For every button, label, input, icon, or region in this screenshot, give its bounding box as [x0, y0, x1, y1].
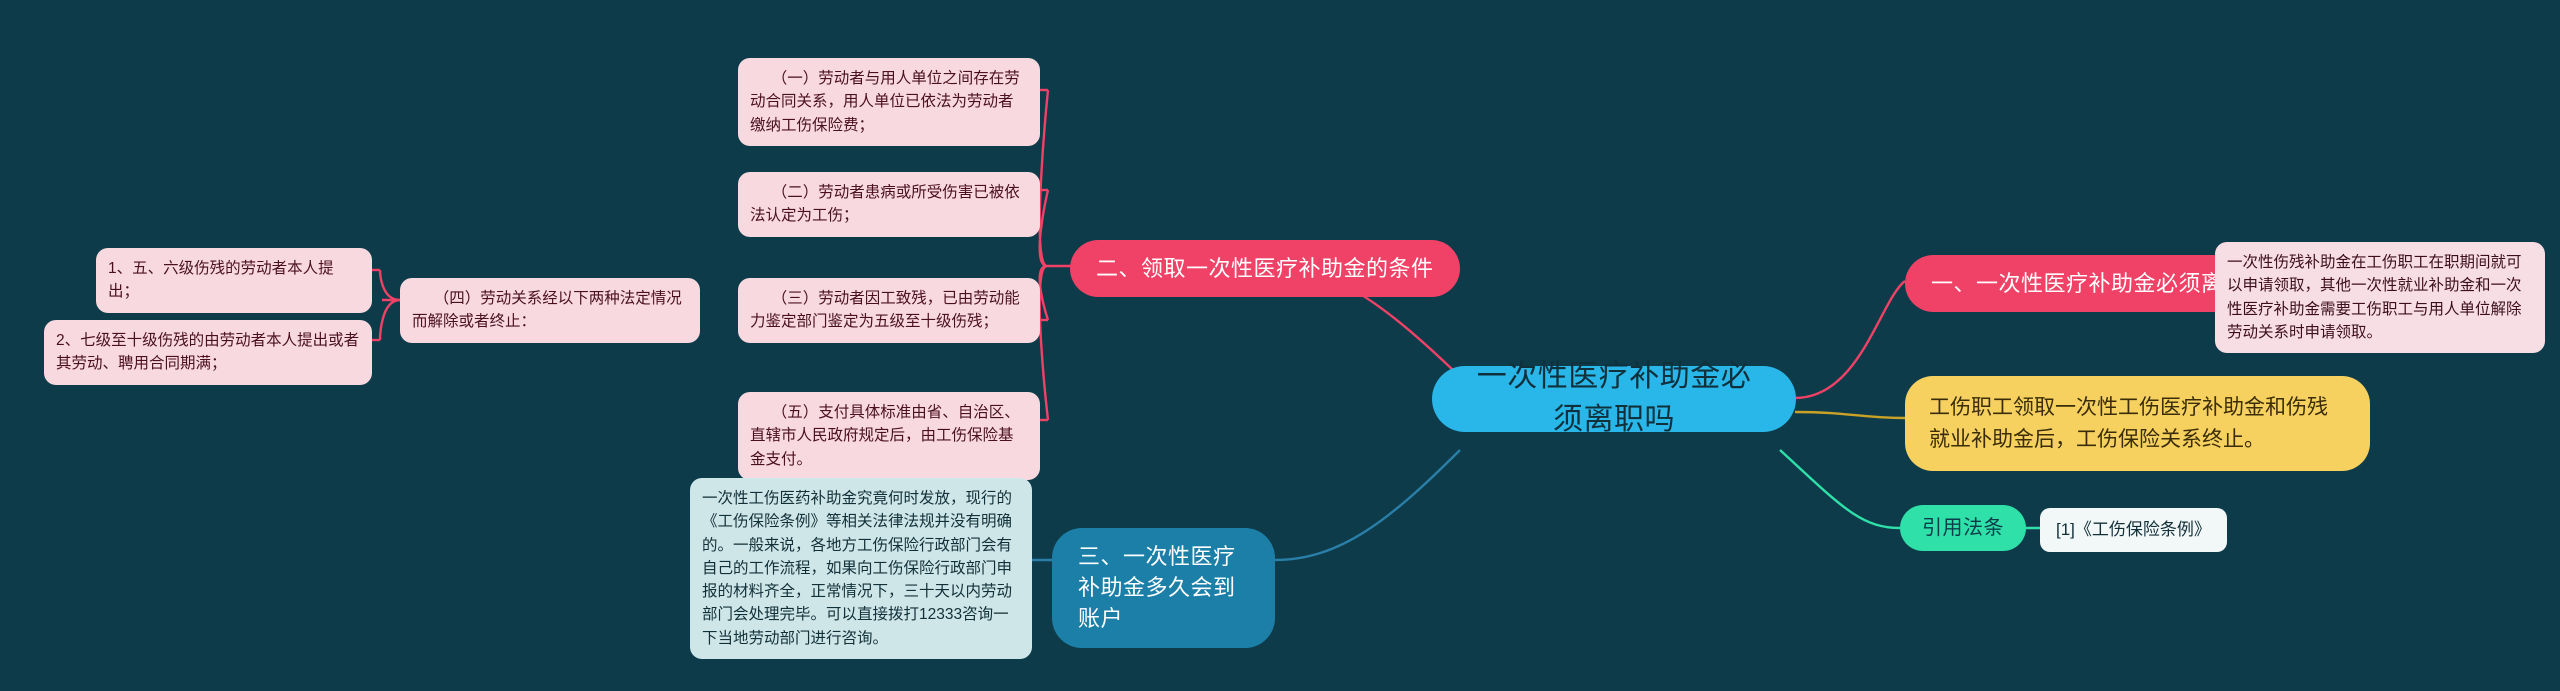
central-topic-label: 一次性医疗补助金必须离职吗	[1466, 356, 1762, 441]
condition-card-3-text: （三）劳动者因工致残，已由劳动能力鉴定部门鉴定为五级至十级伤残；	[750, 287, 1028, 334]
summary-card[interactable]: 工伤职工领取一次性工伤医疗补助金和伤残就业补助金后，工伤保险关系终止。	[1905, 376, 2370, 471]
condition-4-child-1[interactable]: 1、五、六级伤残的劳动者本人提出；	[96, 248, 372, 313]
condition-4-child-2[interactable]: 2、七级至十级伤残的由劳动者本人提出或者其劳动、聘用合同期满；	[44, 320, 372, 385]
branch-two-conditions[interactable]: 二、领取一次性医疗补助金的条件	[1070, 240, 1460, 297]
branch-two-label: 二、领取一次性医疗补助金的条件	[1096, 253, 1434, 284]
branch-one-detail-card[interactable]: 一次性伤残补助金在工伤职工在职期间就可以申请领取，其他一次性就业补助金和一次性医…	[2215, 242, 2545, 353]
branch-laws[interactable]: 引用法条	[1900, 505, 2026, 551]
condition-card-4[interactable]: （四）劳动关系经以下两种法定情况而解除或者终止：	[400, 278, 700, 343]
condition-card-3[interactable]: （三）劳动者因工致残，已由劳动能力鉴定部门鉴定为五级至十级伤残；	[738, 278, 1040, 343]
condition-card-1-text: （一）劳动者与用人单位之间存在劳动合同关系，用人单位已依法为劳动者缴纳工伤保险费…	[750, 67, 1028, 137]
branch-three-detail-text: 一次性工伤医药补助金究竟何时发放，现行的《工伤保险条例》等相关法律法规并没有明确…	[702, 487, 1020, 650]
condition-4-child-2-text: 2、七级至十级伤残的由劳动者本人提出或者其劳动、聘用合同期满；	[56, 329, 360, 376]
condition-card-1[interactable]: （一）劳动者与用人单位之间存在劳动合同关系，用人单位已依法为劳动者缴纳工伤保险费…	[738, 58, 1040, 146]
condition-card-4-text: （四）劳动关系经以下两种法定情况而解除或者终止：	[412, 287, 688, 334]
branch-laws-label: 引用法条	[1922, 514, 2004, 542]
branch-three-arrival-time[interactable]: 三、一次性医疗补助金多久会到账户	[1052, 528, 1275, 648]
law-item-1[interactable]: [1]《工伤保险条例》	[2040, 508, 2227, 552]
mindmap-canvas: 一次性医疗补助金必须离职吗 二、领取一次性医疗补助金的条件 （一）劳动者与用人单…	[0, 0, 2560, 691]
connector-lines	[0, 0, 2560, 691]
branch-three-label: 三、一次性医疗补助金多久会到账户	[1078, 541, 1249, 635]
law-item-1-text: [1]《工伤保险条例》	[2056, 517, 2211, 543]
branch-one-detail-text: 一次性伤残补助金在工伤职工在职期间就可以申请领取，其他一次性就业补助金和一次性医…	[2227, 251, 2533, 344]
condition-card-5[interactable]: （五）支付具体标准由省、自治区、直辖市人民政府规定后，由工伤保险基金支付。	[738, 392, 1040, 480]
branch-three-detail-card[interactable]: 一次性工伤医药补助金究竟何时发放，现行的《工伤保险条例》等相关法律法规并没有明确…	[690, 478, 1032, 659]
central-topic[interactable]: 一次性医疗补助金必须离职吗	[1432, 366, 1796, 432]
condition-4-child-1-text: 1、五、六级伤残的劳动者本人提出；	[108, 257, 360, 304]
summary-card-text: 工伤职工领取一次性工伤医疗补助金和伤残就业补助金后，工伤保险关系终止。	[1929, 392, 2346, 455]
condition-card-2[interactable]: （二）劳动者患病或所受伤害已被依法认定为工伤；	[738, 172, 1040, 237]
condition-card-2-text: （二）劳动者患病或所受伤害已被依法认定为工伤；	[750, 181, 1028, 228]
condition-card-5-text: （五）支付具体标准由省、自治区、直辖市人民政府规定后，由工伤保险基金支付。	[750, 401, 1028, 471]
